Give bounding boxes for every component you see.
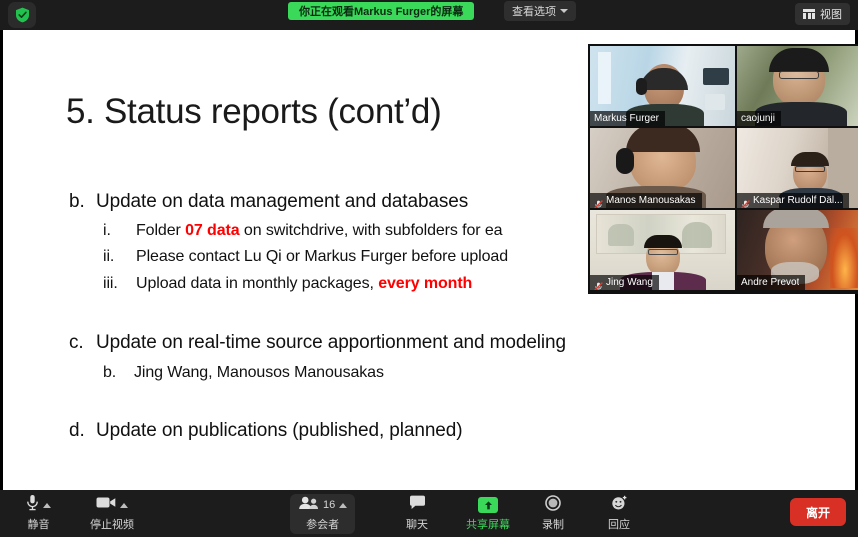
slide-bullet-b-ii: ii.Please contact Lu Qi or Markus Furger…	[103, 248, 508, 266]
participants-button-label: 参会者	[306, 516, 339, 532]
participant-name: caojunji	[741, 113, 775, 124]
participant-nametag: Manos Manousakas	[590, 193, 702, 208]
bullet-marker: d.	[69, 420, 96, 442]
share-button-icons	[478, 497, 498, 514]
record-button-icons	[545, 497, 561, 514]
view-options-label: 查看选项	[512, 3, 556, 19]
slide-bullet-b-iii: iii.Upload data in monthly packages, eve…	[103, 275, 472, 293]
reactions-button-label: 回应	[608, 516, 630, 532]
bullet-marker: b.	[103, 364, 134, 382]
bullet-text-pre: Upload data in monthly packages,	[136, 275, 378, 292]
chat-bubble-icon	[409, 495, 426, 515]
bullet-text-post: on switchdrive, with subfolders for ea	[240, 222, 503, 239]
view-layout-button[interactable]: 视图	[795, 3, 850, 25]
security-shield-button[interactable]	[8, 2, 36, 28]
share-button-label: 共享屏幕	[466, 516, 510, 532]
participants-button[interactable]: 16 参会者	[290, 494, 355, 534]
sharing-banner-text: 你正在观看Markus Furger的屏幕	[299, 3, 463, 19]
view-button-label: 视图	[820, 6, 842, 22]
bullet-text-pre: Folder	[136, 222, 185, 239]
participants-options-chevron-icon[interactable]	[339, 503, 347, 508]
participant-name: Andre Prevot	[741, 277, 799, 288]
bullet-text-pre: Please contact Lu Qi or Markus Furger be…	[136, 248, 508, 265]
video-tile-andre-prevot[interactable]: Andre Prevot	[737, 210, 858, 290]
camera-icon	[96, 496, 116, 514]
participant-nametag: Andre Prevot	[737, 275, 805, 290]
participant-nametag: Jing Wang	[590, 275, 659, 290]
reactions-button-icons	[611, 497, 628, 514]
chat-button-label: 聊天	[406, 516, 428, 532]
leave-button-label: 离开	[806, 504, 830, 521]
stop-video-button[interactable]: 停止视频	[82, 494, 142, 534]
top-bar: 你正在观看Markus Furger的屏幕 查看选项 视图	[0, 0, 858, 30]
record-button[interactable]: 录制	[534, 494, 572, 534]
mute-button-icons	[26, 497, 51, 514]
leave-meeting-button[interactable]: 离开	[790, 498, 846, 526]
microphone-muted-icon	[594, 196, 603, 205]
reactions-button[interactable]: 回应	[600, 494, 638, 534]
bullet-marker: i.	[103, 222, 136, 240]
video-tile-manos-manousakas[interactable]: Manos Manousakas	[590, 128, 735, 208]
screen-sharing-banner: 你正在观看Markus Furger的屏幕	[288, 2, 474, 20]
mute-button[interactable]: 静音	[18, 494, 59, 534]
emoji-plus-icon	[611, 495, 628, 516]
bullet-marker: b.	[69, 191, 96, 213]
bullet-marker: iii.	[103, 275, 136, 293]
participant-name: Manos Manousakas	[606, 195, 696, 206]
video-tile-jing-wang[interactable]: Jing Wang	[590, 210, 735, 290]
record-button-label: 录制	[542, 516, 564, 532]
participant-video-grid: Markus Furger caojunji Manos Mano	[588, 44, 858, 294]
share-arrow-up-icon	[478, 497, 498, 513]
bullet-marker: c.	[69, 332, 96, 354]
participant-nametag: Markus Furger	[590, 111, 665, 126]
participant-nametag: Kaspar Rudolf Däl...	[737, 193, 849, 208]
bullet-marker: ii.	[103, 248, 136, 266]
chat-button[interactable]: 聊天	[398, 494, 436, 534]
bullet-text: Update on publications (published, plann…	[96, 420, 462, 441]
share-screen-button[interactable]: 共享屏幕	[458, 494, 518, 534]
bullet-text: Update on real-time source apportionment…	[96, 332, 566, 353]
video-tile-kaspar-rudolf[interactable]: Kaspar Rudolf Däl...	[737, 128, 858, 208]
bullet-text-highlight: every month	[378, 275, 472, 292]
microphone-muted-icon	[741, 196, 750, 205]
bullet-text-highlight: 07 data	[185, 222, 239, 239]
slide-title: 5. Status reports (cont’d)	[66, 92, 441, 132]
participant-name: Markus Furger	[594, 113, 659, 124]
mute-button-label: 静音	[28, 516, 50, 532]
chevron-down-icon	[560, 9, 568, 13]
slide-bullet-c: c.Update on real-time source apportionme…	[69, 332, 566, 354]
slide-bullet-d: d.Update on publications (published, pla…	[69, 420, 462, 442]
meeting-toolbar: 静音 停止视频 16	[0, 490, 858, 537]
view-options-dropdown[interactable]: 查看选项	[504, 1, 576, 21]
video-tile-markus-furger[interactable]: Markus Furger	[590, 46, 735, 126]
participants-button-icons: 16	[298, 497, 347, 514]
chat-button-icons	[409, 497, 426, 514]
microphone-icon	[26, 494, 39, 516]
video-options-chevron-icon[interactable]	[120, 503, 128, 508]
shield-check-icon	[15, 7, 30, 23]
bullet-text: Jing Wang, Manousos Manousakas	[134, 364, 384, 381]
slide-bullet-c-b: b.Jing Wang, Manousos Manousakas	[103, 364, 384, 382]
microphone-muted-icon	[594, 278, 603, 287]
mute-options-chevron-icon[interactable]	[43, 503, 51, 508]
people-icon	[298, 496, 319, 515]
participants-count: 16	[323, 499, 335, 511]
slide-bullet-b-i: i.Folder 07 data on switchdrive, with su…	[103, 222, 502, 240]
video-button-label: 停止视频	[90, 516, 134, 532]
video-tile-caojunji[interactable]: caojunji	[737, 46, 858, 126]
participant-name: Kaspar Rudolf Däl...	[753, 195, 843, 206]
video-button-icons	[96, 497, 128, 514]
participant-nametag: caojunji	[737, 111, 781, 126]
participant-name: Jing Wang	[606, 277, 653, 288]
grid-view-icon	[803, 9, 815, 19]
record-circle-icon	[545, 495, 561, 516]
slide-bullet-b: b.Update on data management and database…	[69, 191, 468, 213]
bullet-text: Update on data management and databases	[96, 191, 468, 212]
